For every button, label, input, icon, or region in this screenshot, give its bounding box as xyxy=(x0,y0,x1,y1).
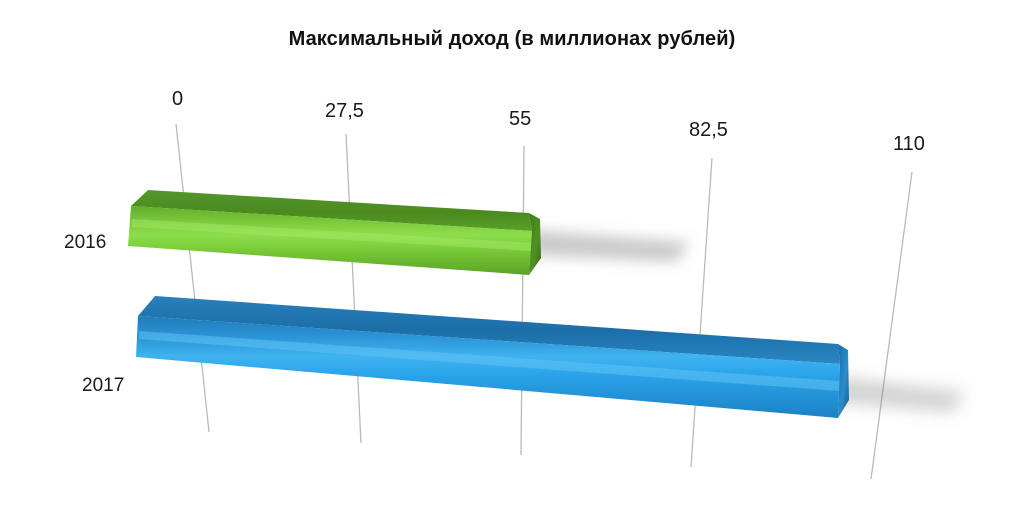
gridline-110 xyxy=(871,172,912,479)
gridline-82-5 xyxy=(691,158,712,467)
bar-2016[interactable] xyxy=(128,190,541,275)
tick-label-82-5: 82,5 xyxy=(689,119,728,142)
bar-shadow-2016 xyxy=(524,230,690,262)
gridlines xyxy=(176,124,912,479)
tick-label-55: 55 xyxy=(509,108,531,131)
gridline-0 xyxy=(176,124,209,432)
tick-label-110: 110 xyxy=(893,133,925,156)
bar-2017-cap xyxy=(838,344,849,418)
category-label-2017: 2017 xyxy=(82,375,124,397)
bar-2017[interactable] xyxy=(136,296,849,418)
gridline-55 xyxy=(521,146,524,455)
gridline-27-5 xyxy=(346,134,361,443)
tick-label-27-5: 27,5 xyxy=(325,100,364,123)
chart-root: Максимальный доход (в миллионах рублей) xyxy=(0,0,1024,530)
plot-area xyxy=(0,0,1024,530)
tick-label-0: 0 xyxy=(172,88,183,111)
category-label-2016: 2016 xyxy=(64,232,106,254)
